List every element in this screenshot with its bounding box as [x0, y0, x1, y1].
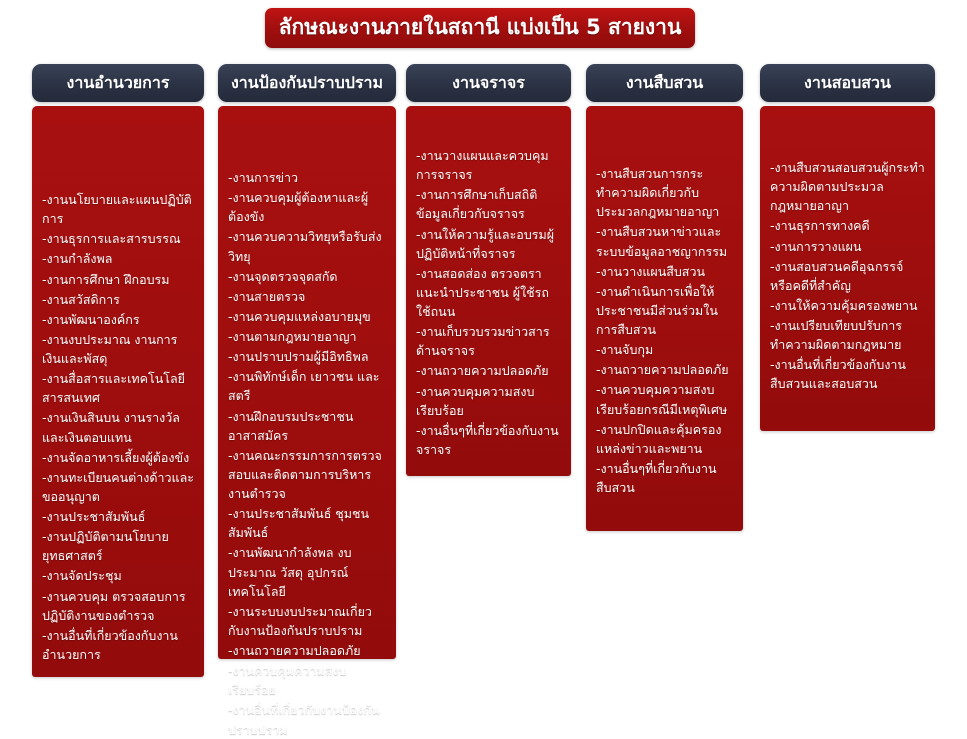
list-item: -งานพัฒนากำลังพล งบประมาณ วัสดุ อุปกรณ์ …	[228, 543, 386, 600]
task-list-jarajorn: -งานวางแผนและควบคุมการจราจร -งานการศึกษา…	[416, 146, 561, 459]
list-item: -งานอื่นที่เกี่ยวข้องกับงานสืบสวนและสอบส…	[770, 355, 925, 393]
column-header-jarajorn: งานจราจร	[406, 64, 571, 102]
list-item: -งานให้ความรู้และอบรมผู้ปฏิบัติหน้าที่จร…	[416, 225, 561, 263]
column-header-pongkanprabpram: งานป้องกันปราบปราม	[218, 64, 396, 102]
list-item: -งานควบคุมแหล่งอบายมุข	[228, 307, 386, 326]
list-item: -งานจัดอาหารเลี้ยงผู้ต้องขัง	[42, 448, 194, 467]
list-item: -งานอื่นๆที่เกี่ยวข้องกับงานจราจร	[416, 421, 561, 459]
list-item: -งานสืบสวนหาข่าวและระบบข้อมูลอาชญากรรม	[596, 222, 733, 260]
list-item: -งานธุรการทางคดี	[770, 216, 925, 235]
list-item: -งานควบคุมความสงบเรียบร้อย	[416, 382, 561, 420]
list-item: -งานถวายความปลอดภัย	[596, 360, 733, 379]
list-item: -งานกำลังพล	[42, 249, 194, 268]
list-item: -งานนโยบายและแผนปฏิบัติการ	[42, 190, 194, 228]
page-title: ลักษณะงานภายในสถานี แบ่งเป็น 5 สายงาน	[279, 16, 682, 39]
list-item: -งานเก็บรวบรวมข่าวสารด้านจราจร	[416, 322, 561, 360]
column-body-ampnuaykan: -งานนโยบายและแผนปฏิบัติการ -งานธุรการและ…	[32, 106, 204, 677]
list-item: -งานควบคุม ตรวจสอบการปฏิบัติงานของตำรวจ	[42, 587, 194, 625]
list-item: -งานควบคุมผู้ต้องหาและผู้ต้องขัง	[228, 188, 386, 226]
list-item: -งานการข่าว	[228, 168, 386, 187]
list-item: -งานฝึกอบรมประชาชน อาสาสมัคร	[228, 407, 386, 445]
list-item: -งานสอดส่อง ตรวจตรา แนะนำประชาชน ผู้ใช้ร…	[416, 264, 561, 321]
list-item: -งานจับกุม	[596, 340, 733, 359]
column-header-ampnuaykan: งานอำนวยการ	[32, 64, 204, 102]
list-item: -งานสืบสวนการกระทำความผิดเกี่ยวกับประมวล…	[596, 164, 733, 221]
list-item: -งานการวางแผน	[770, 237, 925, 256]
list-item: -งานให้ความคุ้มครองพยาน	[770, 296, 925, 315]
column-jarajorn: งานจราจร -งานวางแผนและควบคุมการจราจร -งา…	[406, 64, 571, 476]
list-item: -งานงบประมาณ งานการเงินและพัสดุ	[42, 330, 194, 368]
list-item: -งานธุรการและสารบรรณ	[42, 229, 194, 248]
list-item: -งานควบคุมความสงบเรียบร้อยกรณีมีเหตุพิเศ…	[596, 380, 733, 418]
list-item: -งานจุดตรวจจุดสกัด	[228, 267, 386, 286]
list-item: -งานสวัสดิการ	[42, 290, 194, 309]
list-item: -งานอื่นที่เกี่ยวกับงานป้องกันปราบปราม	[228, 700, 386, 738]
list-item: -งานอื่นที่เกี่ยวข้องกับงานอำนวยการ	[42, 626, 194, 664]
column-body-pongkanprabpram: -งานการข่าว -งานควบคุมผู้ต้องหาและผู้ต้อ…	[218, 106, 396, 659]
list-item: -งานการศึกษา ฝึกอบรม	[42, 270, 194, 289]
list-item: -งานถวายความปลอดภัย	[228, 641, 386, 660]
column-header-sobsuan: งานสอบสวน	[760, 64, 935, 102]
list-item: -งานสื่อสารและเทคโนโลยีสารสนเทศ	[42, 369, 194, 407]
column-header-label: งานสืบสวน	[626, 71, 703, 96]
list-item: -งานวางแผนและควบคุมการจราจร	[416, 146, 561, 184]
column-body-sobsuan: -งานสืบสวนสอบสวนผู้กระทำความผิดตามประมวล…	[760, 106, 935, 431]
list-item: -งานพัฒนาองค์กร	[42, 310, 194, 329]
list-item: -งานสายตรวจ	[228, 287, 386, 306]
list-item: -งานควบคุมความสงบเรียบร้อย	[228, 661, 386, 699]
column-body-jarajorn: -งานวางแผนและควบคุมการจราจร -งานการศึกษา…	[406, 106, 571, 476]
list-item: -งานคณะกรรมการการตรวจสอบและติดตามการบริห…	[228, 446, 386, 503]
task-list-pongkanprabpram: -งานการข่าว -งานควบคุมผู้ต้องหาและผู้ต้อ…	[228, 168, 386, 739]
column-pongkanprabpram: งานป้องกันปราบปราม -งานการข่าว -งานควบคุ…	[218, 64, 396, 659]
column-header-label: งานสอบสวน	[804, 71, 891, 96]
task-list-ampnuaykan: -งานนโยบายและแผนปฏิบัติการ -งานธุรการและ…	[42, 190, 194, 664]
task-list-subsuan: -งานสืบสวนการกระทำความผิดเกี่ยวกับประมวล…	[596, 164, 733, 497]
list-item: -งานปฏิบัติตามนโยบายยุทธศาสตร์	[42, 527, 194, 565]
list-item: -งานอื่นๆที่เกี่ยวกับงานสืบสวน	[596, 459, 733, 497]
list-item: -งานประชาสัมพันธ์ ชุมชนสัมพันธ์	[228, 504, 386, 542]
list-item: -งานเปรียบเทียบปรับการทำความผิดตามกฎหมาย	[770, 316, 925, 354]
column-ampnuaykan: งานอำนวยการ -งานนโยบายและแผนปฏิบัติการ -…	[32, 64, 204, 677]
list-item: -งานดำเนินการเพื่อให้ประชาชนมีส่วนร่วมใน…	[596, 282, 733, 339]
list-item: -งานตามกฎหมายอาญา	[228, 327, 386, 346]
column-header-label: งานจราจร	[452, 71, 525, 96]
column-header-label: งานป้องกันปราบปราม	[231, 71, 383, 96]
list-item: -งานปราบปรามผู้มีอิทธิพล	[228, 347, 386, 366]
column-header-label: งานอำนวยการ	[67, 71, 170, 96]
list-item: -งานจัดประชุม	[42, 566, 194, 585]
task-list-sobsuan: -งานสืบสวนสอบสวนผู้กระทำความผิดตามประมวล…	[770, 158, 925, 394]
list-item: -งานการศึกษาเก็บสถิติข้อมูลเกี่ยวกับจราจ…	[416, 185, 561, 223]
column-sobsuan: งานสอบสวน -งานสืบสวนสอบสวนผู้กระทำความผิ…	[760, 64, 935, 431]
column-header-subsuan: งานสืบสวน	[586, 64, 743, 102]
list-item: -งานเงินสินบน งานรางวัลและเงินตอบแทน	[42, 408, 194, 446]
list-item: -งานประชาสัมพันธ์	[42, 507, 194, 526]
list-item: -งานสืบสวนสอบสวนผู้กระทำความผิดตามประมวล…	[770, 158, 925, 215]
list-item: -งานพิทักษ์เด็ก เยาวชน และสตรี	[228, 367, 386, 405]
column-body-subsuan: -งานสืบสวนการกระทำความผิดเกี่ยวกับประมวล…	[586, 106, 743, 531]
column-subsuan: งานสืบสวน -งานสืบสวนการกระทำความผิดเกี่ย…	[586, 64, 743, 531]
diagram-canvas: ลักษณะงานภายในสถานี แบ่งเป็น 5 สายงาน งา…	[0, 0, 967, 658]
list-item: -งานทะเบียนคนต่างด้าวและขออนุญาต	[42, 468, 194, 506]
list-item: -งานปกปิดและคุ้มครองแหล่งข่าวและพยาน	[596, 420, 733, 458]
list-item: -งานถวายความปลอดภัย	[416, 361, 561, 380]
list-item: -งานสอบสวนคดีอุฉกรรจ์หรือคดีที่สำคัญ	[770, 257, 925, 295]
list-item: -งานระบบงบประมาณเกี่ยวกับงานป้องกันปราบป…	[228, 602, 386, 640]
list-item: -งานควบความวิทยุหรือรับส่งวิทยุ	[228, 227, 386, 265]
diagram-title-banner: ลักษณะงานภายในสถานี แบ่งเป็น 5 สายงาน	[265, 8, 695, 48]
list-item: -งานวางแผนสืบสวน	[596, 262, 733, 281]
